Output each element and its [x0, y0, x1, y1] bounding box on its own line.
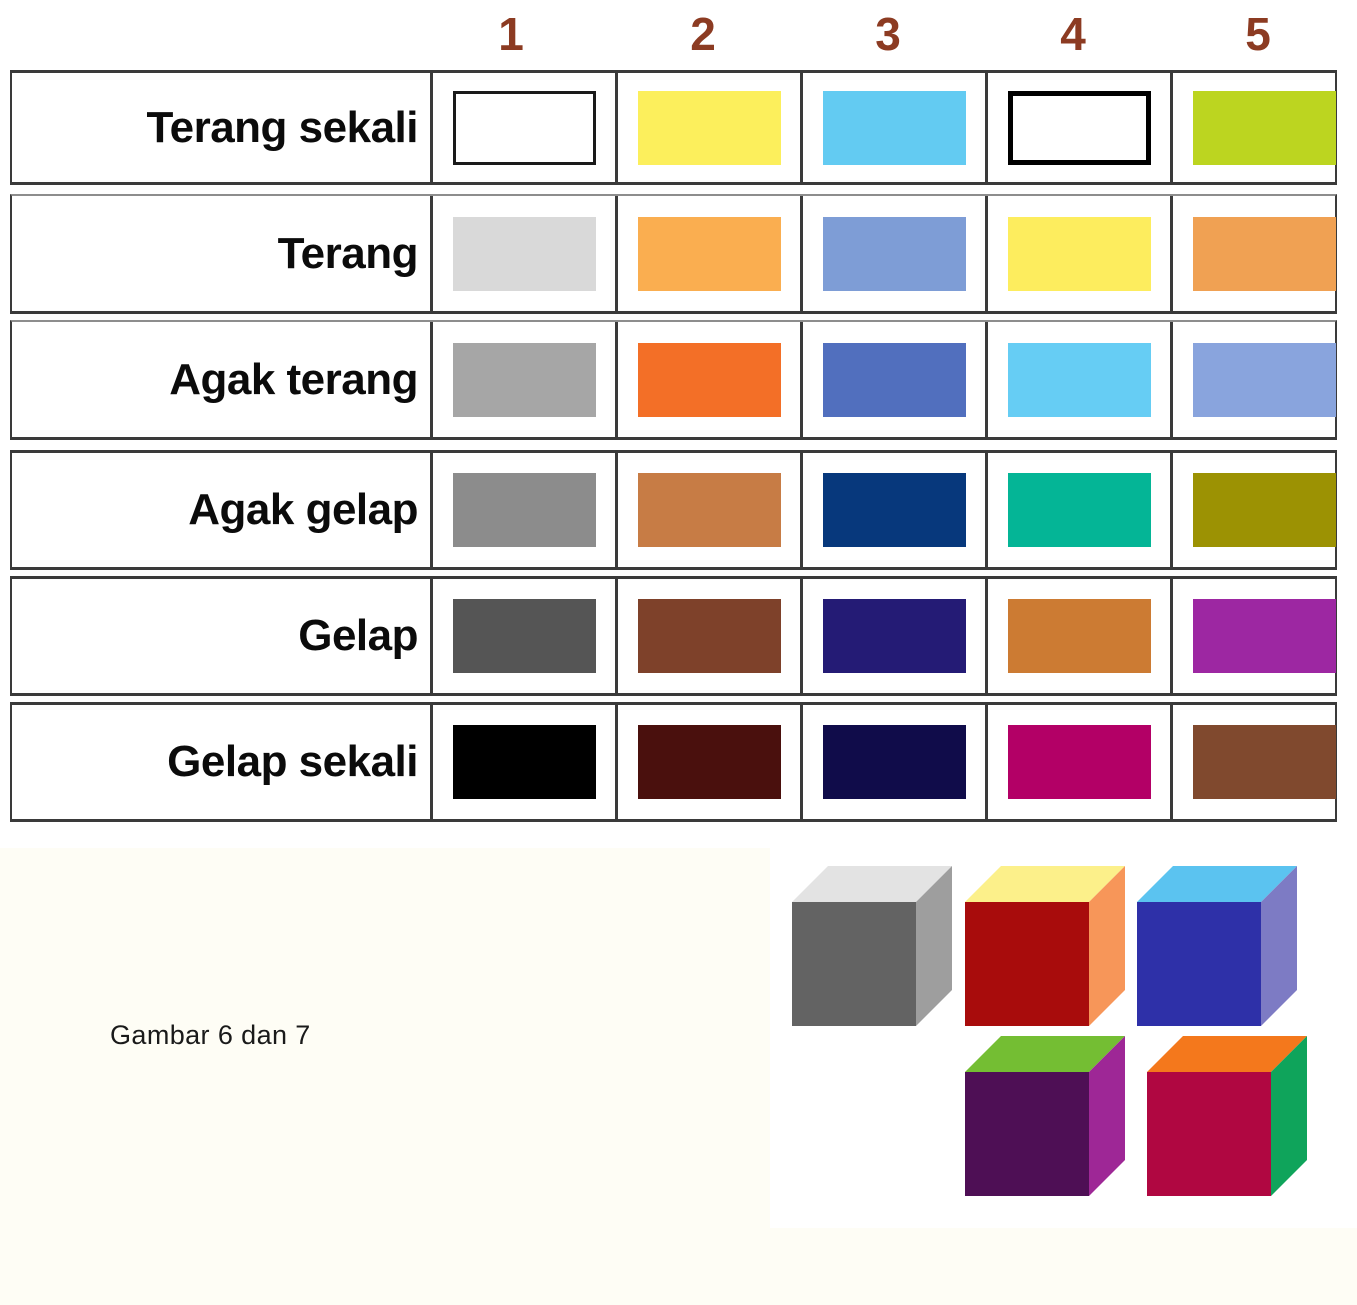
swatch-cell: [430, 705, 615, 819]
color-swatch: [1008, 725, 1151, 799]
column-header-5: 5: [1178, 6, 1338, 62]
swatch-cell: [800, 579, 985, 693]
table-row: Agak terang: [10, 320, 1337, 440]
swatch-cell: [800, 453, 985, 567]
swatch-cell: [985, 705, 1170, 819]
row-label: Terang: [12, 196, 430, 311]
table-row: Terang sekali: [10, 70, 1337, 185]
color-swatch: [1008, 217, 1151, 291]
swatch-cell: [615, 579, 800, 693]
color-swatch: [1008, 343, 1151, 417]
row-label: Gelap sekali: [12, 705, 430, 819]
color-swatch: [823, 725, 966, 799]
color-swatch: [453, 599, 596, 673]
swatch-cell: [430, 196, 615, 311]
table-column-header-row: 1 2 3 4 5: [0, 0, 1357, 72]
table-row: Agak gelap: [10, 450, 1337, 570]
page-background-strip: [0, 1228, 1357, 1305]
swatch-cell: [1170, 579, 1355, 693]
swatch-cell: [615, 322, 800, 437]
cube-front-face: [792, 902, 916, 1026]
cube-front-face: [965, 902, 1089, 1026]
swatch-cell: [615, 453, 800, 567]
color-swatch: [638, 217, 781, 291]
figure-panel: Gambar 6 dan 7: [0, 818, 1357, 1305]
table-row: Gelap sekali: [10, 702, 1337, 822]
swatch-cell: [985, 196, 1170, 311]
color-swatch: [823, 473, 966, 547]
color-swatch: [1008, 599, 1151, 673]
swatch-cell: [985, 453, 1170, 567]
cube-red: [965, 866, 1125, 1026]
swatch-cell: [430, 579, 615, 693]
cube-crimson: [1147, 1036, 1307, 1196]
row-label: Agak terang: [12, 322, 430, 437]
column-header-2: 2: [623, 6, 783, 62]
color-swatch: [1193, 91, 1336, 165]
color-swatch: [1008, 473, 1151, 547]
color-swatch: [453, 217, 596, 291]
column-header-1: 1: [431, 6, 591, 62]
color-swatch: [453, 343, 596, 417]
color-swatch: [453, 473, 596, 547]
color-swatch: [638, 599, 781, 673]
column-header-4: 4: [993, 6, 1153, 62]
color-swatch: [1193, 725, 1336, 799]
cube-front-face: [965, 1072, 1089, 1196]
color-swatch: [638, 725, 781, 799]
column-header-3: 3: [808, 6, 968, 62]
swatch-cell: [615, 705, 800, 819]
color-swatch: [1193, 473, 1336, 547]
color-swatch: [1193, 343, 1336, 417]
color-swatch: [638, 343, 781, 417]
cube-gray: [792, 866, 952, 1026]
swatch-cell: [1170, 73, 1355, 182]
row-label: Terang sekali: [12, 73, 430, 182]
swatch-cell: [430, 73, 615, 182]
swatch-cell: [615, 73, 800, 182]
table-row: Terang: [10, 194, 1337, 314]
swatch-cell: [800, 322, 985, 437]
swatch-cell: [430, 322, 615, 437]
color-swatch: [823, 217, 966, 291]
cube-front-face: [1137, 902, 1261, 1026]
color-swatch: [638, 473, 781, 547]
swatch-cell: [1170, 705, 1355, 819]
row-label: Agak gelap: [12, 453, 430, 567]
swatch-cell: [1170, 322, 1355, 437]
figure-caption: Gambar 6 dan 7: [110, 1020, 311, 1051]
color-lightness-table: 1 2 3 4 5 Terang sekali Terang: [0, 0, 1357, 818]
cube-purple: [965, 1036, 1125, 1196]
table-body: Terang sekali Terang Agak terang: [10, 70, 1337, 806]
color-swatch: [1008, 91, 1151, 165]
color-swatch: [823, 91, 966, 165]
swatch-cell: [1170, 196, 1355, 311]
swatch-cell: [1170, 453, 1355, 567]
color-swatch: [823, 343, 966, 417]
swatch-cell: [800, 73, 985, 182]
swatch-cell: [800, 705, 985, 819]
color-swatch: [1193, 217, 1336, 291]
cube-front-face: [1147, 1072, 1271, 1196]
swatch-cell: [985, 322, 1170, 437]
swatch-cell: [985, 73, 1170, 182]
row-label: Gelap: [12, 579, 430, 693]
color-swatch: [453, 725, 596, 799]
swatch-cell: [615, 196, 800, 311]
swatch-cell: [985, 579, 1170, 693]
cube-blue: [1137, 866, 1297, 1026]
swatch-cell: [430, 453, 615, 567]
color-swatch: [453, 91, 596, 165]
table-row: Gelap: [10, 576, 1337, 696]
color-swatch: [823, 599, 966, 673]
color-swatch: [638, 91, 781, 165]
swatch-cell: [800, 196, 985, 311]
color-swatch: [1193, 599, 1336, 673]
